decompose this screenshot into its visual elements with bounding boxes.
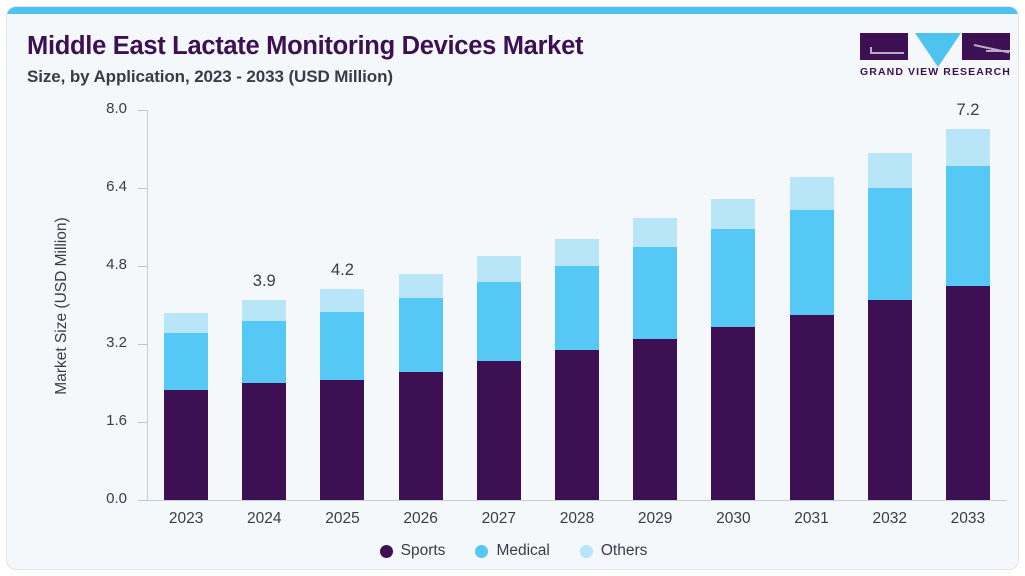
bar-segment-others[interactable] [320, 289, 364, 312]
accent-top-bar [7, 7, 1019, 14]
y-tick-mark [138, 344, 147, 345]
x-tick-label: 2033 [928, 510, 1008, 528]
bar-segment-sports[interactable] [946, 286, 990, 501]
logo-wordmark: GRAND VIEW RESEARCH [860, 66, 1010, 78]
legend-swatch-icon [475, 545, 488, 558]
bar-segment-medical[interactable] [711, 229, 755, 327]
bar-stack[interactable]: 7.2 [946, 129, 990, 500]
bar-stack[interactable] [868, 153, 912, 500]
bar-segment-medical[interactable] [320, 312, 364, 380]
bar-segment-medical[interactable] [399, 298, 443, 372]
legend-label: Medical [496, 542, 549, 560]
bar-segment-sports[interactable] [868, 300, 912, 500]
bar-stack[interactable]: 3.9 [242, 300, 286, 500]
plot-area: 0.01.63.24.86.48.0 3.94.27.2 20232024202… [147, 110, 1007, 501]
bar-stack[interactable] [633, 218, 677, 500]
bar-segment-sports[interactable] [477, 361, 521, 500]
bar-segment-sports[interactable] [633, 339, 677, 500]
x-tick-label: 2025 [302, 510, 382, 528]
bar-segment-sports[interactable] [790, 315, 834, 500]
logo-letter-r-icon [962, 33, 1010, 60]
y-tick-mark [138, 110, 147, 111]
bar-segment-sports[interactable] [164, 390, 208, 500]
logo-r-stroke-horizontal [986, 50, 1010, 52]
bar-segment-medical[interactable] [946, 166, 990, 285]
bar-segment-medical[interactable] [164, 333, 208, 390]
bar-value-label: 3.9 [253, 272, 276, 291]
bar-segment-sports[interactable] [399, 372, 443, 500]
bar-segment-others[interactable] [711, 199, 755, 230]
legend-item-others[interactable]: Others [580, 542, 648, 560]
x-tick-label: 2029 [615, 510, 695, 528]
page-title: Middle East Lactate Monitoring Devices M… [27, 32, 583, 61]
y-axis-title: Market Size (USD Million) [53, 217, 71, 394]
bar-segment-sports[interactable] [711, 327, 755, 500]
logo-g-stroke-horizontal [870, 52, 904, 54]
grand-view-research-logo: GRAND VIEW RESEARCH [860, 33, 1010, 81]
bar-stack[interactable] [790, 177, 834, 500]
x-tick-label: 2024 [224, 510, 304, 528]
bar-segment-medical[interactable] [477, 282, 521, 361]
legend-swatch-icon [380, 545, 393, 558]
x-tick-label: 2031 [772, 510, 852, 528]
legend-label: Sports [401, 542, 446, 560]
bar-segment-others[interactable] [633, 218, 677, 247]
y-tick-label: 1.6 [42, 412, 127, 429]
bar-stack[interactable] [477, 256, 521, 500]
x-tick-label: 2026 [381, 510, 461, 528]
logo-g-stroke-vertical [870, 47, 872, 54]
x-tick-label: 2032 [850, 510, 930, 528]
bar-stack[interactable] [399, 274, 443, 500]
x-tick-label: 2023 [146, 510, 226, 528]
y-tick-mark [138, 422, 147, 423]
chart-legend: SportsMedicalOthers [7, 542, 1019, 560]
y-axis-line [147, 110, 148, 501]
logo-letter-v-triangle-icon [915, 33, 961, 67]
bar-segment-others[interactable] [555, 239, 599, 266]
bar-stack[interactable] [555, 239, 599, 500]
bar-segment-others[interactable] [242, 300, 286, 321]
bar-segment-medical[interactable] [633, 247, 677, 339]
bar-segment-others[interactable] [790, 177, 834, 210]
x-tick-label: 2027 [459, 510, 539, 528]
legend-item-medical[interactable]: Medical [475, 542, 549, 560]
bar-value-label: 7.2 [956, 101, 979, 120]
x-tick-label: 2030 [693, 510, 773, 528]
bar-segment-others[interactable] [946, 129, 990, 167]
x-tick-label: 2028 [537, 510, 617, 528]
y-tick-label: 4.8 [42, 256, 127, 273]
bar-segment-sports[interactable] [555, 350, 599, 500]
legend-label: Others [601, 542, 648, 560]
bar-segment-medical[interactable] [555, 266, 599, 350]
page-subtitle: Size, by Application, 2023 - 2033 (USD M… [27, 67, 393, 87]
bar-stack[interactable] [711, 199, 755, 500]
bar-segment-medical[interactable] [868, 188, 912, 300]
y-axis-title-wrapper: Market Size (USD Million) [52, 110, 72, 501]
legend-item-sports[interactable]: Sports [380, 542, 446, 560]
x-axis-line [147, 500, 1007, 501]
logo-letter-g-icon [860, 33, 908, 60]
y-tick-mark [138, 266, 147, 267]
bar-segment-others[interactable] [399, 274, 443, 298]
y-tick-label: 6.4 [42, 178, 127, 195]
y-tick-mark [138, 188, 147, 189]
bar-segment-others[interactable] [868, 153, 912, 188]
y-tick-mark [138, 500, 147, 501]
bar-segment-medical[interactable] [242, 321, 286, 383]
bar-segment-sports[interactable] [242, 383, 286, 500]
legend-swatch-icon [580, 545, 593, 558]
y-tick-label: 3.2 [42, 334, 127, 351]
bar-stack[interactable]: 4.2 [320, 289, 364, 500]
y-tick-label: 0.0 [42, 490, 127, 507]
chart-card: Middle East Lactate Monitoring Devices M… [6, 6, 1019, 570]
bar-segment-others[interactable] [477, 256, 521, 282]
bar-segment-others[interactable] [164, 313, 208, 333]
bar-value-label: 4.2 [331, 261, 354, 280]
y-tick-label: 8.0 [42, 100, 127, 117]
bar-segment-sports[interactable] [320, 380, 364, 500]
logo-r-stroke-diagonal [974, 44, 1010, 53]
bar-stack[interactable] [164, 313, 208, 500]
bar-segment-medical[interactable] [790, 210, 834, 315]
